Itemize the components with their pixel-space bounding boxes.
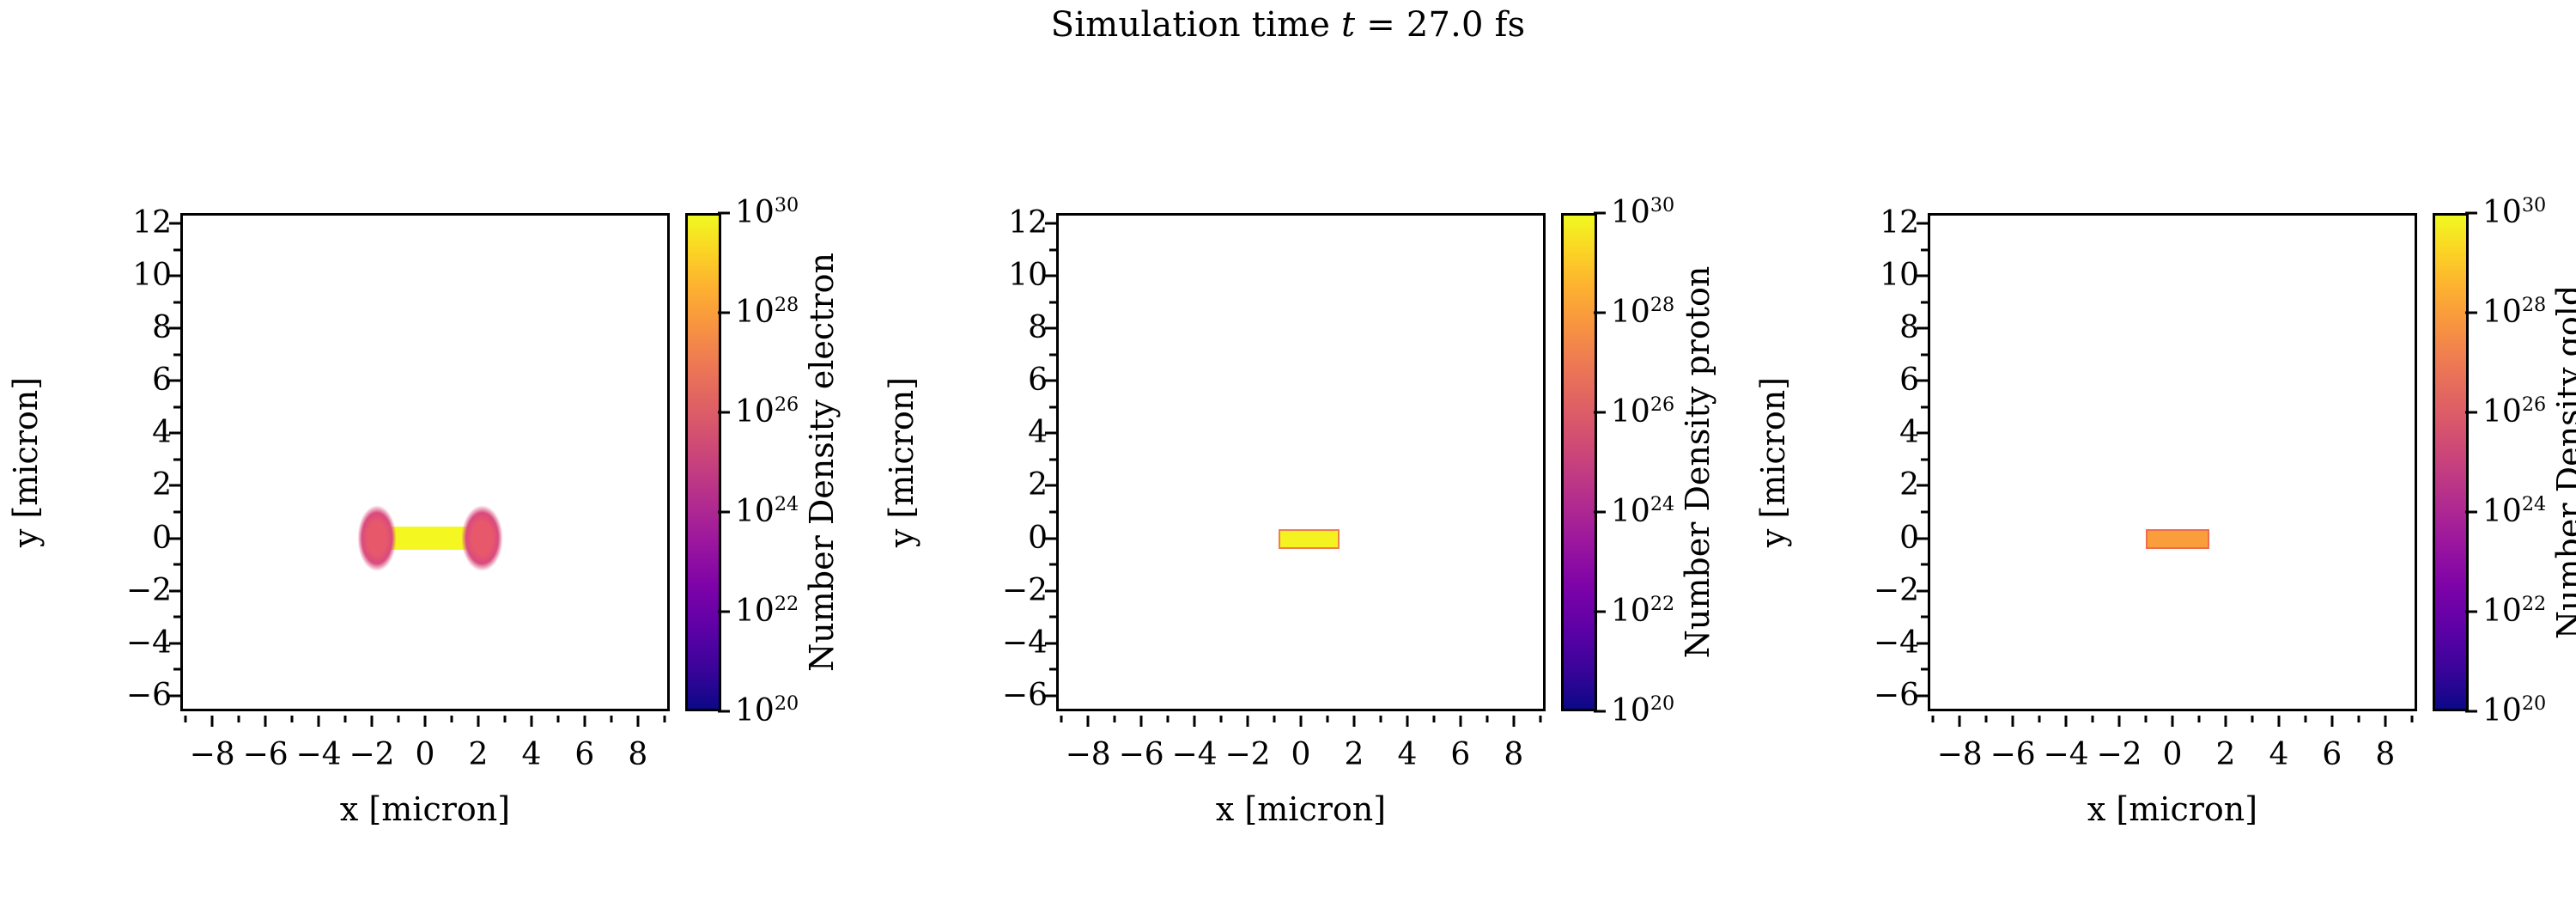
- axes-electron[interactable]: [180, 213, 670, 711]
- colorbar-tick-exponent: 20: [775, 692, 799, 715]
- x-tick-major: [1512, 716, 1515, 727]
- x-tick-minor: [663, 716, 665, 722]
- colorbar-tick-mantissa: 10: [2482, 494, 2522, 529]
- x-tick-major: [1087, 716, 1090, 727]
- x-tick-minor: [556, 716, 559, 722]
- y-tick-label: 0: [69, 523, 172, 554]
- y-tick-major: [169, 589, 180, 592]
- x-axis-label: x [micron]: [180, 790, 670, 828]
- y-tick-label: 0: [945, 523, 1048, 554]
- y-tick-minor: [173, 616, 180, 619]
- y-tick-label: 12: [69, 208, 172, 239]
- colorbar-tick-label: 1026: [1611, 397, 1674, 428]
- panel-row: 121086420−2−4−6−8−6−4−202468x [micron]y …: [0, 0, 2576, 902]
- y-tick-minor: [173, 405, 180, 408]
- colorbar-tick-exponent: 20: [1650, 692, 1674, 715]
- x-tick-label: −4: [296, 740, 342, 771]
- colorbar-tick-exponent: 22: [775, 593, 799, 615]
- colorbar-proton[interactable]: [1561, 213, 1597, 711]
- colorbar-tick: [718, 710, 730, 713]
- x-tick-major: [1459, 716, 1461, 727]
- x-tick-label: −8: [1937, 740, 1983, 771]
- x-tick-minor: [1326, 716, 1328, 722]
- x-tick-minor: [1114, 716, 1116, 722]
- colorbar-tick-label: 1030: [735, 198, 799, 229]
- y-tick-minor: [173, 353, 180, 356]
- y-tick-minor: [1049, 405, 1056, 408]
- y-tick-label: 10: [945, 260, 1048, 291]
- colorbar-label: Number Density electron: [799, 213, 845, 711]
- y-tick-label: −4: [69, 628, 172, 659]
- y-tick-label: 6: [69, 365, 172, 396]
- colorbar-electron[interactable]: [685, 213, 721, 711]
- colorbar-tick-label: 1020: [2482, 696, 2546, 727]
- y-tick-label: 2: [945, 470, 1048, 501]
- x-tick-label: −6: [1119, 740, 1164, 771]
- y-tick-minor: [1049, 564, 1056, 566]
- y-tick-minor: [1049, 616, 1056, 619]
- colorbar-tick-exponent: 22: [2522, 593, 2546, 615]
- x-tick-major: [1247, 716, 1249, 727]
- y-tick-minor: [1049, 458, 1056, 460]
- x-tick-minor: [1432, 716, 1435, 722]
- colorbar-tick: [718, 511, 730, 514]
- x-tick-group: −8−6−4−202468: [180, 716, 670, 776]
- colorbar-tick-marks: [2465, 213, 2479, 711]
- x-tick-label: −2: [349, 740, 394, 771]
- colorbar-tick: [2465, 411, 2477, 414]
- x-tick-label: 2: [2216, 740, 2236, 771]
- colorbar-label: Number Density gold: [2546, 213, 2576, 711]
- x-tick-minor: [1220, 716, 1223, 722]
- x-tick-minor: [1539, 716, 1541, 722]
- y-tick-label-group: 121086420−2−4−6: [943, 213, 1048, 711]
- x-tick-minor: [2145, 716, 2148, 722]
- colorbar-tick: [2465, 212, 2477, 215]
- y-tick-label: −6: [69, 680, 172, 711]
- y-tick-label: −6: [1816, 680, 1919, 711]
- y-tick-marks: [1045, 213, 1059, 711]
- y-tick-label: 8: [1816, 313, 1919, 344]
- colorbar-tick: [718, 312, 730, 314]
- x-tick-label: 8: [2375, 740, 2395, 771]
- x-tick-major: [2224, 716, 2227, 727]
- x-tick-major: [1406, 716, 1408, 727]
- colorbar-gold[interactable]: [2433, 213, 2469, 711]
- colorbar-tick: [718, 611, 730, 613]
- colorbar-tick-marks: [1594, 213, 1607, 711]
- x-tick-label: −6: [243, 740, 289, 771]
- y-tick-major: [1917, 432, 1928, 435]
- y-tick-minor: [1921, 458, 1928, 460]
- x-axis-label: x [micron]: [1928, 790, 2417, 828]
- y-tick-major: [1917, 275, 1928, 277]
- colorbar-tick: [2465, 710, 2477, 713]
- x-tick-minor: [2092, 716, 2094, 722]
- x-tick-minor: [1273, 716, 1276, 722]
- x-tick-minor: [2410, 716, 2413, 722]
- colorbar-tick: [1594, 212, 1606, 215]
- colorbar-tick-mantissa: 10: [1611, 693, 1650, 728]
- density-wing-left: [358, 505, 395, 570]
- y-tick-major: [169, 537, 180, 539]
- x-tick-label: −2: [2096, 740, 2142, 771]
- x-tick-minor: [185, 716, 187, 722]
- colorbar-tick-exponent: 28: [1650, 294, 1674, 316]
- colorbar-tick-mantissa: 10: [1611, 494, 1650, 529]
- colorbar-tick: [2465, 611, 2477, 613]
- x-tick-group: −8−6−4−202468: [1928, 716, 2417, 776]
- colorbar-tick-mantissa: 10: [735, 295, 775, 330]
- x-tick-label: 4: [2269, 740, 2288, 771]
- colorbar-tick-exponent: 24: [2522, 493, 2546, 515]
- colorbar-tick-label: 1022: [735, 596, 799, 627]
- y-tick-label: 8: [69, 313, 172, 344]
- y-tick-major: [1917, 694, 1928, 697]
- colorbar-tick-exponent: 26: [2522, 393, 2546, 416]
- x-tick-minor: [450, 716, 453, 722]
- y-tick-label: 4: [69, 417, 172, 448]
- y-tick-minor: [1921, 616, 1928, 619]
- x-tick-major: [2118, 716, 2121, 727]
- y-tick-major: [1045, 327, 1056, 330]
- y-tick-minor: [173, 458, 180, 460]
- y-axis-label: y [micron]: [876, 213, 927, 711]
- y-tick-label: 6: [945, 365, 1048, 396]
- colorbar-tick-label: 1020: [1611, 696, 1674, 727]
- colorbar-tick-mantissa: 10: [1611, 394, 1650, 430]
- x-tick-minor: [2251, 716, 2253, 722]
- colorbar-label: Number Density proton: [1674, 213, 1721, 711]
- x-tick-label: 6: [1450, 740, 1470, 771]
- colorbar-tick-exponent: 22: [1650, 593, 1674, 615]
- x-tick-label: −4: [2044, 740, 2089, 771]
- x-axis-label: x [micron]: [1056, 790, 1546, 828]
- colorbar-tick-mantissa: 10: [2482, 693, 2522, 728]
- y-tick-label: 2: [69, 470, 172, 501]
- x-tick-major: [371, 716, 374, 727]
- y-tick-major: [169, 327, 180, 330]
- y-tick-minor: [1049, 353, 1056, 356]
- x-tick-major: [1140, 716, 1143, 727]
- x-tick-label: 6: [2322, 740, 2342, 771]
- x-tick-major: [264, 716, 267, 727]
- y-tick-minor: [173, 301, 180, 303]
- x-tick-major: [2012, 716, 2014, 727]
- x-tick-major: [530, 716, 532, 727]
- density-wing-right: [462, 505, 501, 570]
- x-tick-label: −8: [1066, 740, 1111, 771]
- x-tick-group: −8−6−4−202468: [1056, 716, 1546, 776]
- x-tick-label: 8: [628, 740, 647, 771]
- y-tick-marks: [1917, 213, 1930, 711]
- y-tick-major: [169, 432, 180, 435]
- y-tick-label: −4: [945, 628, 1048, 659]
- y-tick-major: [1917, 222, 1928, 225]
- x-tick-major: [424, 716, 427, 727]
- x-tick-major: [2277, 716, 2280, 727]
- x-tick-label: 2: [1345, 740, 1364, 771]
- y-tick-minor: [1921, 248, 1928, 251]
- y-tick-label: 10: [69, 260, 172, 291]
- colorbar-tick-exponent: 28: [775, 294, 799, 316]
- colorbar-tick-exponent: 26: [775, 393, 799, 416]
- colorbar-tick-label: 1030: [2482, 198, 2546, 229]
- colorbar-tick-mantissa: 10: [735, 494, 775, 529]
- x-tick-minor: [398, 716, 400, 722]
- x-tick-major: [2172, 716, 2174, 727]
- colorbar-tick: [718, 212, 730, 215]
- y-tick-minor: [173, 668, 180, 671]
- y-tick-major: [1045, 537, 1056, 539]
- colorbar-tick-exponent: 28: [2522, 294, 2546, 316]
- colorbar-tick-mantissa: 10: [735, 394, 775, 430]
- y-tick-label: 2: [1816, 470, 1919, 501]
- colorbar-tick-mantissa: 10: [1611, 195, 1650, 230]
- colorbar-tick-label: 1028: [1611, 297, 1674, 328]
- x-tick-label: 8: [1504, 740, 1523, 771]
- y-tick-minor: [1921, 511, 1928, 514]
- x-tick-minor: [1932, 716, 1935, 722]
- panel-gold: 121086420−2−4−6−8−6−4−202468x [micron]y …: [1747, 0, 2576, 902]
- y-tick-minor: [1921, 668, 1928, 671]
- colorbar-tick-mantissa: 10: [2482, 195, 2522, 230]
- y-tick-label: −2: [69, 576, 172, 606]
- x-tick-label: −6: [1990, 740, 2036, 771]
- x-tick-label: 4: [1397, 740, 1417, 771]
- colorbar-tick-mantissa: 10: [2482, 295, 2522, 330]
- y-tick-major: [169, 222, 180, 225]
- x-tick-label: −2: [1224, 740, 1270, 771]
- colorbar-tick-label: 1030: [1611, 198, 1674, 229]
- x-tick-major: [2330, 716, 2333, 727]
- colorbar-tick: [718, 411, 730, 414]
- y-tick-minor: [1921, 301, 1928, 303]
- x-tick-label: 6: [574, 740, 594, 771]
- x-tick-major: [477, 716, 479, 727]
- y-tick-label: 4: [945, 417, 1048, 448]
- colorbar-tick-label: 1024: [735, 497, 799, 527]
- x-tick-minor: [2304, 716, 2306, 722]
- x-tick-minor: [1060, 716, 1063, 722]
- y-tick-major: [1045, 380, 1056, 382]
- x-tick-minor: [2197, 716, 2200, 722]
- y-tick-major: [1045, 589, 1056, 592]
- y-tick-minor: [1049, 301, 1056, 303]
- x-tick-major: [1352, 716, 1355, 727]
- y-tick-label: 8: [945, 313, 1048, 344]
- y-tick-label-group: 121086420−2−4−6: [67, 213, 172, 711]
- y-tick-major: [1045, 222, 1056, 225]
- colorbar-tick-exponent: 30: [1650, 194, 1674, 216]
- y-tick-major: [1917, 327, 1928, 330]
- x-tick-major: [1300, 716, 1303, 727]
- x-tick-label: −8: [190, 740, 235, 771]
- x-tick-minor: [344, 716, 347, 722]
- y-tick-label: −2: [1816, 576, 1919, 606]
- colorbar-tick-label: 1026: [735, 397, 799, 428]
- density-foil-core: [2146, 529, 2209, 549]
- colorbar-tick-mantissa: 10: [2482, 394, 2522, 430]
- axes-proton[interactable]: [1056, 213, 1546, 711]
- y-tick-label: −6: [945, 680, 1048, 711]
- y-tick-minor: [1049, 248, 1056, 251]
- x-tick-minor: [291, 716, 294, 722]
- y-tick-minor: [1921, 405, 1928, 408]
- colorbar-tick-mantissa: 10: [1611, 295, 1650, 330]
- colorbar-tick: [1594, 411, 1606, 414]
- colorbar-tick-exponent: 20: [2522, 692, 2546, 715]
- y-tick-label: 0: [1816, 523, 1919, 554]
- colorbar-tick-label: 1028: [2482, 297, 2546, 328]
- y-tick-label-group: 121086420−2−4−6: [1814, 213, 1919, 711]
- colorbar-tick-label: 1022: [2482, 596, 2546, 627]
- y-tick-major: [1917, 642, 1928, 644]
- x-tick-minor: [2357, 716, 2360, 722]
- colorbar-tick-label: 1028: [735, 297, 799, 328]
- y-tick-major: [169, 694, 180, 697]
- colorbar-tick-mantissa: 10: [1611, 594, 1650, 629]
- colorbar-tick: [1594, 611, 1606, 613]
- y-tick-label: 12: [945, 208, 1048, 239]
- y-tick-label: −2: [945, 576, 1048, 606]
- colorbar-tick-exponent: 30: [775, 194, 799, 216]
- y-tick-major: [1045, 642, 1056, 644]
- y-tick-minor: [1921, 353, 1928, 356]
- y-tick-major: [1045, 275, 1056, 277]
- y-tick-major: [169, 642, 180, 644]
- colorbar-tick-marks: [718, 213, 732, 711]
- x-tick-minor: [1379, 716, 1382, 722]
- x-tick-minor: [1167, 716, 1170, 722]
- colorbar-tick-mantissa: 10: [735, 594, 775, 629]
- y-tick-minor: [1049, 668, 1056, 671]
- x-tick-minor: [1485, 716, 1488, 722]
- colorbar-tick: [1594, 710, 1606, 713]
- y-tick-minor: [173, 564, 180, 566]
- colorbar-tick: [1594, 511, 1606, 514]
- x-tick-label: 0: [1291, 740, 1311, 771]
- colorbar-tick-exponent: 24: [775, 493, 799, 515]
- y-axis-label: y [micron]: [1747, 213, 1799, 711]
- density-foil-core: [391, 527, 468, 550]
- colorbar-tick-label: 1020: [735, 696, 799, 727]
- x-tick-major: [2384, 716, 2386, 727]
- y-tick-minor: [1049, 511, 1056, 514]
- y-tick-major: [1917, 485, 1928, 487]
- y-tick-major: [1917, 537, 1928, 539]
- x-tick-minor: [610, 716, 612, 722]
- y-tick-label: 4: [1816, 417, 1919, 448]
- colorbar-tick-mantissa: 10: [735, 195, 775, 230]
- x-tick-major: [211, 716, 214, 727]
- x-tick-minor: [503, 716, 506, 722]
- x-tick-major: [1959, 716, 1961, 727]
- x-tick-label: 0: [416, 740, 435, 771]
- y-tick-major: [1917, 380, 1928, 382]
- y-tick-label: −4: [1816, 628, 1919, 659]
- y-tick-major: [1045, 432, 1056, 435]
- y-tick-major: [1045, 694, 1056, 697]
- y-tick-minor: [173, 511, 180, 514]
- panel-proton: 121086420−2−4−6−8−6−4−202468x [micron]y …: [876, 0, 1735, 902]
- y-tick-label: 6: [1816, 365, 1919, 396]
- colorbar-tick: [2465, 511, 2477, 514]
- colorbar-tick-label: 1022: [1611, 596, 1674, 627]
- y-tick-marks: [169, 213, 183, 711]
- x-tick-label: 2: [469, 740, 489, 771]
- x-tick-major: [583, 716, 586, 727]
- x-tick-minor: [238, 716, 240, 722]
- colorbar-tick: [1594, 312, 1606, 314]
- y-tick-major: [169, 380, 180, 382]
- x-tick-major: [636, 716, 639, 727]
- x-tick-minor: [1985, 716, 1988, 722]
- y-tick-minor: [173, 248, 180, 251]
- density-foil-core: [1279, 529, 1340, 549]
- y-tick-major: [1045, 485, 1056, 487]
- y-tick-major: [1917, 589, 1928, 592]
- y-tick-major: [169, 485, 180, 487]
- colorbar-tick-label: 1024: [1611, 497, 1674, 527]
- colorbar-tick-exponent: 26: [1650, 393, 1674, 416]
- x-tick-minor: [2038, 716, 2041, 722]
- colorbar-tick-exponent: 30: [2522, 194, 2546, 216]
- x-tick-label: 4: [521, 740, 541, 771]
- x-tick-major: [2065, 716, 2068, 727]
- colorbar-tick: [2465, 312, 2477, 314]
- y-axis-label: y [micron]: [0, 213, 52, 711]
- colorbar-tick-mantissa: 10: [2482, 594, 2522, 629]
- y-tick-label: 12: [1816, 208, 1919, 239]
- colorbar-tick-label: 1024: [2482, 497, 2546, 527]
- colorbar-tick-exponent: 24: [1650, 493, 1674, 515]
- x-tick-major: [318, 716, 320, 727]
- panel-electron: 121086420−2−4−6−8−6−4−202468x [micron]y …: [0, 0, 859, 902]
- y-tick-minor: [1921, 564, 1928, 566]
- axes-gold[interactable]: [1928, 213, 2417, 711]
- colorbar-tick-mantissa: 10: [735, 693, 775, 728]
- x-tick-label: 0: [2163, 740, 2183, 771]
- x-tick-label: −4: [1172, 740, 1218, 771]
- x-tick-major: [1194, 716, 1196, 727]
- y-tick-label: 10: [1816, 260, 1919, 291]
- y-tick-major: [169, 275, 180, 277]
- colorbar-tick-label: 1026: [2482, 397, 2546, 428]
